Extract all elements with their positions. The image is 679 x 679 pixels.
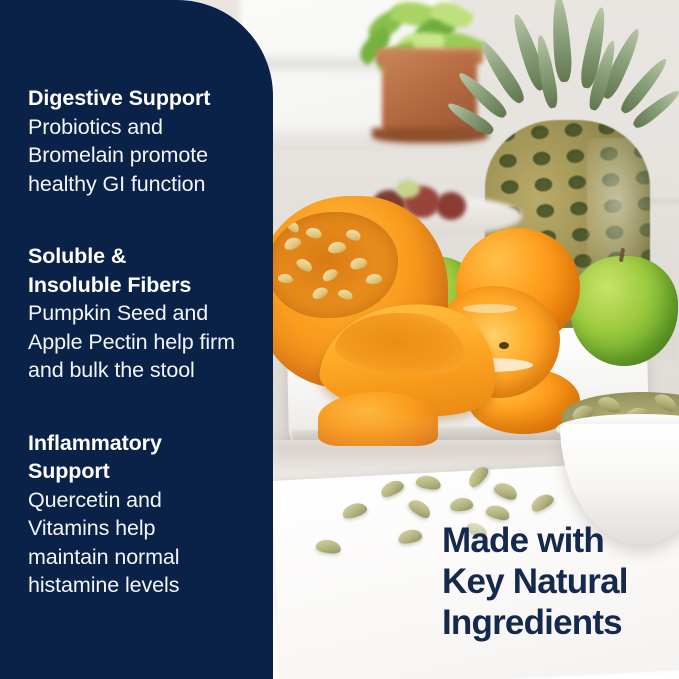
green-apple (570, 256, 678, 366)
benefit-block-soluble-insoluble-fibers: Soluble & Insoluble Fibers Pumpkin Seed … (28, 242, 260, 385)
plant-pot (382, 52, 477, 137)
benefit-body: Pumpkin Seed and Apple Pectin help firm … (28, 299, 260, 385)
pumpkin-half-back (318, 392, 438, 446)
benefit-body: Probiotics and Bromelain promote healthy… (28, 113, 260, 199)
dark-fruit (396, 180, 420, 198)
benefit-title: Inflammatory Support (28, 429, 260, 486)
benefit-block-inflammatory-support: Inflammatory Support Quercetin and Vitam… (28, 429, 260, 600)
benefit-body: Quercetin and Vitamins help maintain nor… (28, 486, 260, 600)
benefit-title: Soluble & Insoluble Fibers (28, 242, 260, 299)
benefit-title: Digestive Support (28, 84, 260, 113)
product-benefits-graphic: Digestive Support Probiotics and Bromela… (0, 0, 679, 679)
dark-fruit (436, 192, 466, 220)
plant-saucer (372, 128, 488, 143)
benefit-block-digestive-support: Digestive Support Probiotics and Bromela… (28, 84, 260, 198)
benefits-text-column: Digestive Support Probiotics and Bromela… (28, 84, 260, 600)
headline: Made with Key Natural Ingredients (442, 520, 679, 643)
